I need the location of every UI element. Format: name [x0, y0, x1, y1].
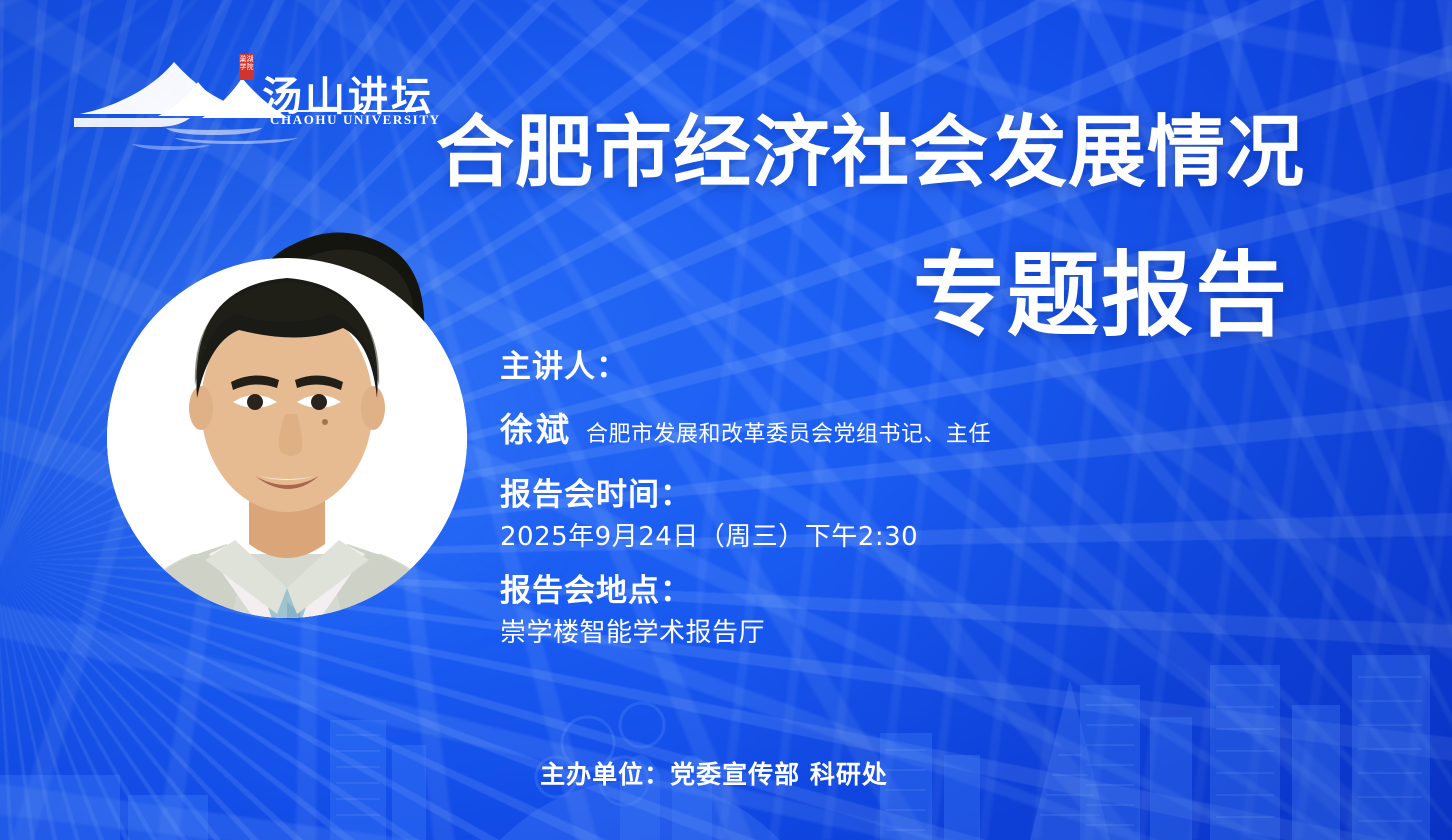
- speaker-title: 合肥市发展和改革委员会党组书记、主任: [586, 416, 991, 448]
- red-seal-stamp: 巢湖学院: [239, 54, 254, 80]
- venue-value: 崇学楼智能学术报告厅: [500, 613, 1260, 653]
- venue-label: 报告会地点：: [500, 569, 1260, 613]
- spacer: [500, 451, 1260, 473]
- event-details: 主讲人： 徐斌 合肥市发展和改革委员会党组书记、主任 报告会时间： 2025年9…: [500, 345, 1260, 653]
- time-label: 报告会时间：: [500, 473, 1260, 517]
- city-skyline-silhouette: [0, 625, 1452, 840]
- portrait-photo-image: [107, 258, 467, 618]
- poster-title-line-1: 合肥市经济社会发展情况: [436, 111, 1305, 195]
- logo-title-en: CHAOHU UNIVERSITY: [270, 112, 441, 128]
- event-poster: 巢湖学院 汤山讲坛 CHAOHU UNIVERSITY: [0, 0, 1452, 840]
- speaker-label: 主讲人：: [500, 345, 1260, 389]
- spacer: [500, 557, 1260, 569]
- speaker-name: 徐斌: [500, 403, 572, 451]
- poster-title-line-2: 专题报告: [913, 247, 1289, 345]
- organizers-text: 主办单位：党委宣传部 科研处: [540, 755, 888, 791]
- speaker-portrait: [107, 258, 467, 618]
- portrait-photo-frame: [107, 258, 467, 618]
- chaohu-university-forum-logo: 巢湖学院 汤山讲坛 CHAOHU UNIVERSITY: [74, 52, 414, 152]
- seal-text: 巢湖学院: [239, 54, 254, 72]
- speaker-row: 徐斌 合肥市发展和改革委员会党组书记、主任: [500, 403, 1260, 451]
- time-value: 2025年9月24日（周三）下午2:30: [500, 517, 1260, 557]
- organizers-footer: 主办单位：党委宣传部 科研处: [0, 755, 1452, 791]
